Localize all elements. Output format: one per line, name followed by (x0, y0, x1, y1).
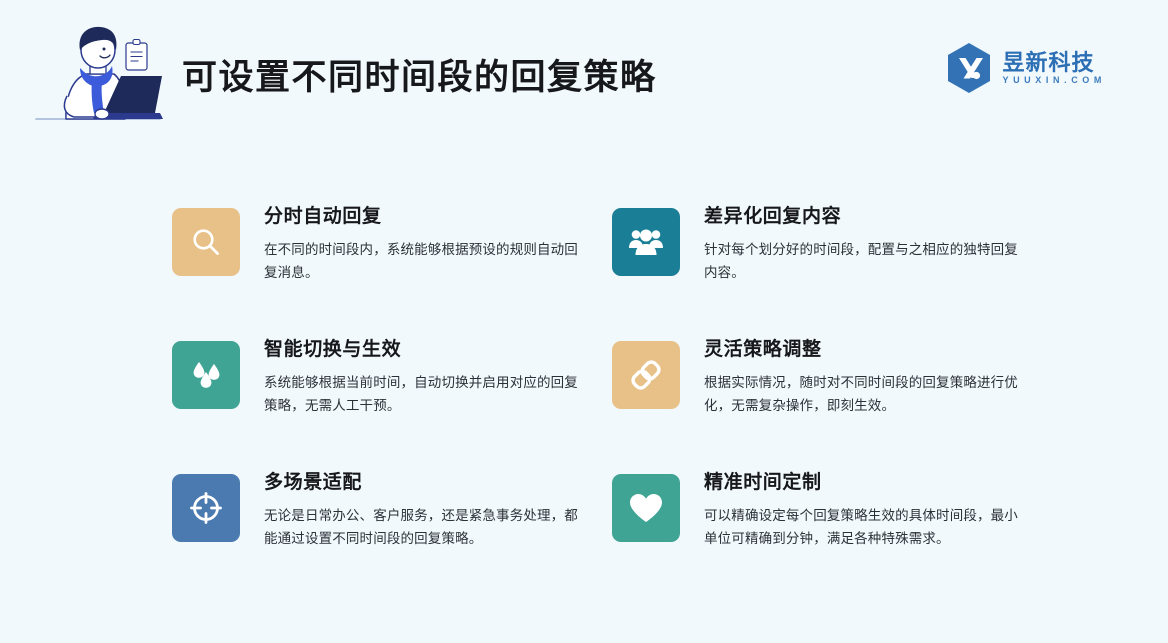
feature-title: 智能切换与生效 (264, 339, 582, 362)
feature-title: 多场景适配 (264, 472, 582, 495)
feature-item: 差异化回复内容 针对每个划分好的时间段，配置与之相应的独特回复内容。 (612, 205, 1022, 284)
feature-body: 精准时间定制 可以精确设定每个回复策略生效的具体时间段，最小单位可精确到分钟，满… (704, 471, 1022, 550)
feature-desc: 系统能够根据当前时间，自动切换并启用对应的回复策略，无需人工干预。 (264, 371, 582, 417)
feature-item: 灵活策略调整 根据实际情况，随时对不同时间段的回复策略进行优化，无需复杂操作，即… (612, 338, 1022, 417)
crosshair-target-icon (188, 490, 224, 526)
feature-desc: 无论是日常办公、客户服务，还是紧急事务处理，都能通过设置不同时间段的回复策略。 (264, 504, 582, 550)
chain-link-icon (628, 357, 664, 393)
heart-icon (628, 491, 664, 525)
hexagon-x-logo-icon (945, 42, 993, 94)
feature-item: 分时自动回复 在不同的时间段内，系统能够根据预设的规则自动回复消息。 (172, 205, 582, 284)
feature-desc: 针对每个划分好的时间段，配置与之相应的独特回复内容。 (704, 238, 1022, 284)
search-icon (189, 225, 223, 259)
feature-item: 智能切换与生效 系统能够根据当前时间，自动切换并启用对应的回复策略，无需人工干预… (172, 338, 582, 417)
page-title: 可设置不同时间段的回复策略 (182, 60, 657, 95)
feature-body: 差异化回复内容 针对每个划分好的时间段，配置与之相应的独特回复内容。 (704, 205, 1022, 284)
feature-item: 精准时间定制 可以精确设定每个回复策略生效的具体时间段，最小单位可精确到分钟，满… (612, 471, 1022, 550)
feature-title: 分时自动回复 (264, 206, 582, 229)
feature-desc: 在不同的时间段内，系统能够根据预设的规则自动回复消息。 (264, 238, 582, 284)
page-header: 可设置不同时间段的回复策略 昱新科技 YUUXIN.COM (0, 0, 1168, 140)
feature-title: 差异化回复内容 (704, 206, 1022, 229)
feature-icon-tile (612, 474, 680, 542)
feature-body: 智能切换与生效 系统能够根据当前时间，自动切换并启用对应的回复策略，无需人工干预… (264, 338, 582, 417)
feature-desc: 可以精确设定每个回复策略生效的具体时间段，最小单位可精确到分钟，满足各种特殊需求… (704, 504, 1022, 550)
feature-title: 精准时间定制 (704, 472, 1022, 495)
brand-logo: 昱新科技 YUUXIN.COM (945, 42, 1106, 94)
brand-name: 昱新科技 (1002, 51, 1106, 75)
feature-desc: 根据实际情况，随时对不同时间段的回复策略进行优化，无需复杂操作，即刻生效。 (704, 371, 1022, 417)
person-at-laptop-illustration (22, 18, 174, 130)
feature-icon-tile (172, 341, 240, 409)
feature-grid: 分时自动回复 在不同的时间段内，系统能够根据预设的规则自动回复消息。 差异化回复… (172, 205, 1052, 551)
water-droplets-icon (189, 358, 223, 392)
feature-item: 多场景适配 无论是日常办公、客户服务，还是紧急事务处理，都能通过设置不同时间段的… (172, 471, 582, 550)
feature-icon-tile (172, 474, 240, 542)
feature-body: 灵活策略调整 根据实际情况，随时对不同时间段的回复策略进行优化，无需复杂操作，即… (704, 338, 1022, 417)
feature-body: 分时自动回复 在不同的时间段内，系统能够根据预设的规则自动回复消息。 (264, 205, 582, 284)
feature-icon-tile (172, 208, 240, 276)
feature-icon-tile (612, 208, 680, 276)
brand-domain: YUUXIN.COM (1002, 75, 1106, 87)
users-group-icon (628, 226, 664, 258)
feature-icon-tile (612, 341, 680, 409)
feature-title: 灵活策略调整 (704, 339, 1022, 362)
feature-body: 多场景适配 无论是日常办公、客户服务，还是紧急事务处理，都能通过设置不同时间段的… (264, 471, 582, 550)
brand-text: 昱新科技 YUUXIN.COM (1002, 49, 1106, 87)
